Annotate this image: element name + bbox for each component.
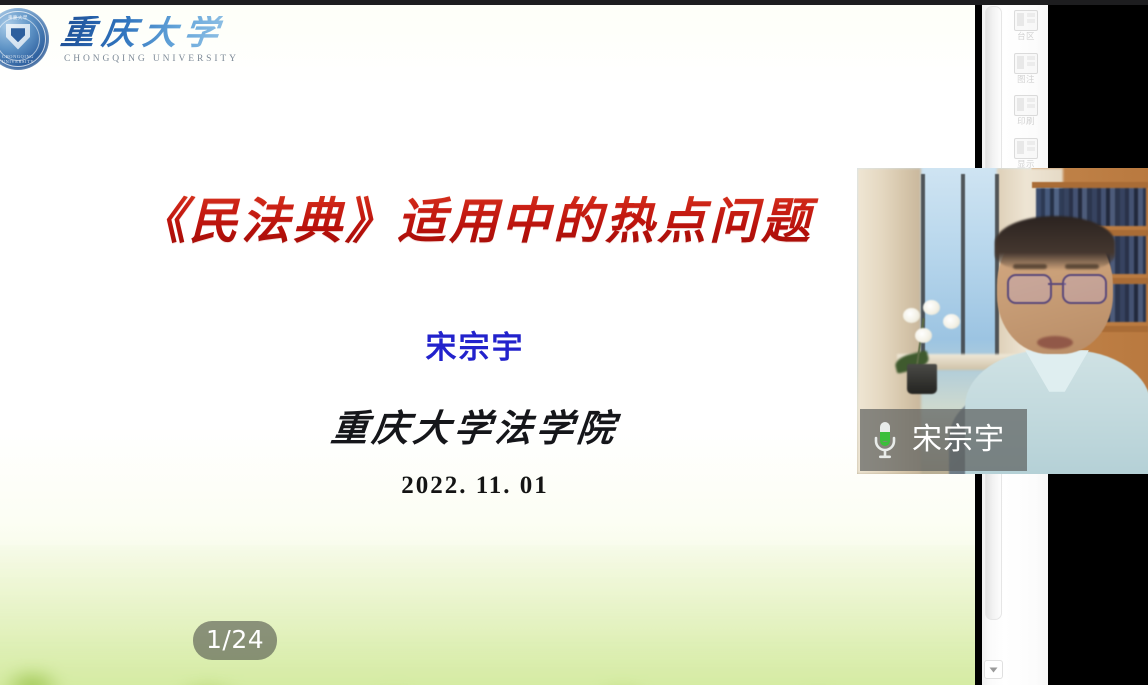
window-mullion-2: [961, 174, 965, 362]
participant-video-tile[interactable]: 宋宗宇: [857, 168, 1148, 474]
glasses-lens-right: [1062, 274, 1107, 304]
university-logo-wordmark: 重庆大学 CHONGQING UNIVERSITY: [61, 14, 239, 65]
university-logo: 重慶大學 CHONGQING UNIVERSITY 重庆大学 CHONGQING…: [0, 8, 239, 70]
university-name-cn: 重庆大学: [59, 16, 241, 50]
person-brow-left: [1013, 264, 1047, 269]
microphone-icon: [872, 421, 898, 459]
display-icon: [1014, 138, 1038, 159]
university-seal-icon: 重慶大學 CHONGQING UNIVERSITY: [0, 8, 49, 70]
layout-panel-icon: [1014, 10, 1038, 31]
orchid-bloom-4: [915, 328, 932, 343]
slide-title: 《民法典》适用中的热点问题: [0, 182, 950, 253]
orchid-pot: [907, 364, 937, 394]
seal-text-top: 重慶大學: [0, 15, 49, 21]
screen-share-window: 重慶大學 CHONGQING UNIVERSITY 重庆大学 CHONGQING…: [0, 0, 1148, 685]
participant-nameplate: 宋宗宇: [860, 409, 1027, 471]
page-indicator: 1/24: [193, 621, 277, 660]
tool-rail-label-1: 图注: [1004, 76, 1048, 85]
tool-rail-label-0: 台区: [1004, 33, 1048, 42]
tool-rail-item-2[interactable]: 印刷: [1004, 89, 1048, 132]
slide-date: 2022. 11. 01: [0, 472, 950, 500]
person-mouth: [1037, 336, 1073, 349]
tool-rail-item-1[interactable]: 图注: [1004, 47, 1048, 90]
orchid-bloom-2: [923, 300, 940, 315]
orchid-bloom-1: [903, 308, 920, 323]
tool-rail-label-2: 印刷: [1004, 118, 1048, 127]
seal-text-bottom: CHONGQING UNIVERSITY: [0, 54, 49, 64]
participant-name-label: 宋宗宇: [912, 425, 1005, 455]
slide-affiliation: 重庆大学法学院: [0, 398, 953, 452]
print-icon: [1014, 95, 1038, 116]
person-brow-right: [1065, 264, 1099, 269]
chevron-down-icon: [989, 667, 998, 673]
slide-presenter-name: 宋宗宇: [0, 322, 950, 367]
person-glasses: [1007, 274, 1107, 300]
person-hair: [995, 216, 1115, 270]
shared-slide-surface[interactable]: 重慶大學 CHONGQING UNIVERSITY 重庆大学 CHONGQING…: [0, 4, 975, 685]
annotation-icon: [1014, 53, 1038, 74]
orchid-bloom-3: [943, 314, 960, 329]
slide-foliage-decoration: [0, 545, 975, 685]
window-top-bar: [0, 0, 1148, 5]
scrollbar-down-button[interactable]: [984, 660, 1003, 679]
tool-rail-item-0[interactable]: 台区: [1004, 4, 1048, 47]
glasses-lens-left: [1007, 274, 1052, 304]
university-name-en: CHONGQING UNIVERSITY: [61, 55, 239, 65]
